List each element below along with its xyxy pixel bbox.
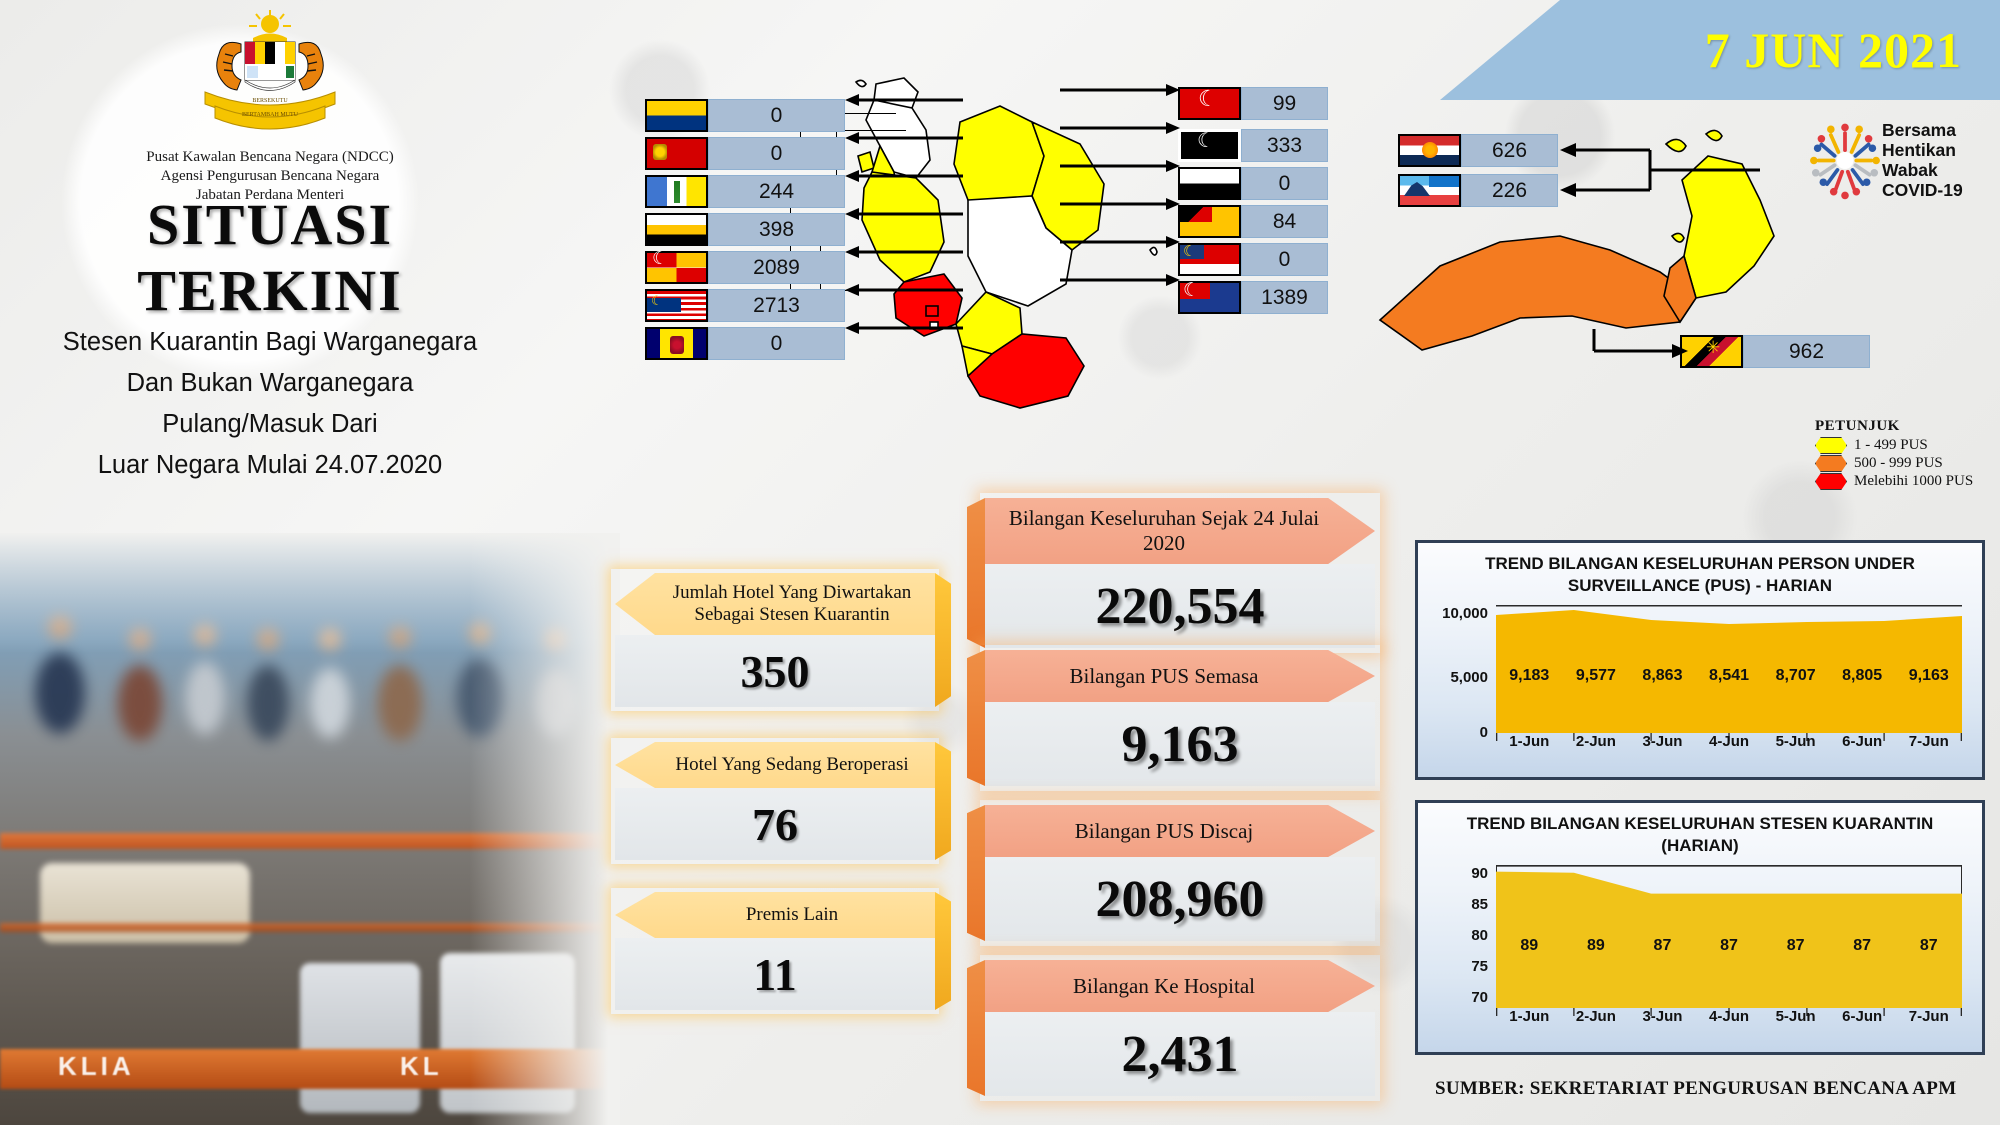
page-title-line-2: TERKINI	[25, 258, 515, 324]
stat-card-hotel-beroperasi: Hotel Yang Sedang Beroperasi 76	[615, 742, 935, 860]
flag-johor-icon	[1178, 281, 1241, 314]
state-row-pulau-pinang[interactable]: 244	[645, 175, 845, 208]
chart-title-stesen-kuarantin: TREND BILANGAN KESELURUHAN STESEN KUARAN…	[1426, 813, 1974, 857]
datalabel-k-1-jun: 89	[1496, 937, 1563, 955]
airport-queue-photo: KLIA KL	[0, 533, 620, 1125]
state-row-kedah[interactable]: 0	[645, 137, 845, 170]
xtick-k-1-jun: 1-Jun	[1496, 1008, 1563, 1030]
subtitle-line-3: Pulang/Masuk Dari	[10, 404, 530, 445]
datalabel-k-7-jun: 87	[1895, 937, 1962, 955]
chart-pus-harian: TREND BILANGAN KESELURUHAN PERSON UNDER …	[1415, 540, 1985, 780]
state-value-sabah: 226	[1461, 174, 1558, 207]
ytick-70: 70	[1426, 989, 1488, 1006]
flag-putrajaya-icon	[645, 327, 708, 360]
state-value-kelantan: 99	[1241, 87, 1328, 120]
xtick-2-jun: 2-Jun	[1563, 733, 1630, 755]
page-title-line-1: SITUASI	[25, 192, 515, 258]
flag-terengganu-icon	[1178, 129, 1241, 162]
state-row-putrajaya[interactable]: 0	[645, 327, 845, 360]
stat-card-hotel-diwartakan: Jumlah Hotel Yang Diwartakan Sebagai Ste…	[615, 573, 935, 707]
state-row-kuala-lumpur[interactable]: 2713	[645, 289, 845, 322]
state-value-putrajaya: 0	[708, 327, 845, 360]
state-row-perlis[interactable]: 0	[645, 99, 845, 132]
ytick-90: 90	[1426, 865, 1488, 882]
state-row-sarawak[interactable]: 962	[1680, 335, 1870, 368]
state-row-melaka[interactable]: 0	[1178, 243, 1328, 276]
stat-value-ke-hospital: 2,431	[985, 1012, 1375, 1096]
klia-sign-left: KLIA	[58, 1051, 135, 1082]
legend-title: PETUNJUK	[1815, 418, 1995, 435]
stat-label-pus-semasa: Bilangan PUS Semasa	[985, 650, 1375, 702]
chart-xaxis-pus-harian: 1-Jun 2-Jun 3-Jun 4-Jun 5-Jun 6-Jun 7-Ju…	[1496, 733, 1962, 755]
xtick-k-4-jun: 4-Jun	[1696, 1008, 1763, 1030]
datalabel-k-6-jun: 87	[1829, 937, 1896, 955]
flag-kedah-icon	[645, 137, 708, 170]
stat-value-pus-semasa: 9,163	[985, 702, 1375, 786]
state-row-pahang[interactable]: 0	[1178, 167, 1328, 200]
datalabel-2-jun: 9,577	[1563, 667, 1630, 685]
page-title: SITUASI TERKINI	[25, 192, 515, 324]
stat-value-hotel-beroperasi: 76	[615, 788, 935, 860]
xtick-k-3-jun: 3-Jun	[1629, 1008, 1696, 1030]
xtick-7-jun: 7-Jun	[1895, 733, 1962, 755]
flag-perlis-icon	[645, 99, 708, 132]
state-row-sabah[interactable]: 226	[1398, 174, 1558, 207]
flag-melaka-icon	[1178, 243, 1241, 276]
flag-kuala-lumpur-icon	[645, 289, 708, 322]
legend-chip-orange	[1815, 455, 1847, 472]
stat-card-pus-discaj: Bilangan PUS Discaj 208,960	[985, 805, 1375, 941]
stat-label-pus-discaj: Bilangan PUS Discaj	[985, 805, 1375, 857]
datalabel-6-jun: 8,805	[1829, 667, 1896, 685]
state-value-kedah: 0	[708, 137, 845, 170]
stat-value-premis-lain: 11	[615, 938, 935, 1010]
stat-label-ke-hospital: Bilangan Ke Hospital	[985, 960, 1375, 1012]
stat-label-keseluruhan-sejak: Bilangan Keseluruhan Sejak 24 Julai 2020	[985, 498, 1375, 564]
state-value-selangor: 2089	[708, 251, 845, 284]
state-row-terengganu[interactable]: 333	[1178, 129, 1328, 162]
state-value-negeri-sembilan: 84	[1241, 205, 1328, 238]
legend-item-yellow: 1 - 499 PUS	[1815, 437, 1995, 454]
subtitle-line-2: Dan Bukan Warganegara	[10, 363, 530, 404]
datalabel-5-jun: 8,707	[1762, 667, 1829, 685]
datalabel-k-3-jun: 87	[1629, 937, 1696, 955]
xtick-5-jun: 5-Jun	[1762, 733, 1829, 755]
state-value-pulau-pinang: 244	[708, 175, 845, 208]
chart-plot-pus-harian: 10,000 5,000 0 9,183 9,577 8,863 8,5	[1426, 605, 1974, 755]
state-value-labuan: 626	[1461, 134, 1558, 167]
state-row-perak[interactable]: 398	[645, 213, 845, 246]
state-value-kuala-lumpur: 2713	[708, 289, 845, 322]
ytick-10000: 10,000	[1426, 605, 1488, 622]
flag-pulau-pinang-icon	[645, 175, 708, 208]
subtitle-line-4: Luar Negara Mulai 24.07.2020	[10, 445, 530, 486]
ytick-80: 80	[1426, 927, 1488, 944]
state-value-melaka: 0	[1241, 243, 1328, 276]
state-value-johor: 1389	[1241, 281, 1328, 314]
stat-card-premis-lain: Premis Lain 11	[615, 892, 935, 1010]
datalabel-k-2-jun: 89	[1563, 937, 1630, 955]
stat-label-hotel-diwartakan: Jumlah Hotel Yang Diwartakan Sebagai Ste…	[615, 573, 935, 635]
source-footer: SUMBER: SEKRETARIAT PENGURUSAN BENCANA A…	[1435, 1078, 1956, 1100]
flag-pahang-icon	[1178, 167, 1241, 200]
flag-selangor-icon	[645, 251, 708, 284]
datalabel-k-5-jun: 87	[1762, 937, 1829, 955]
stat-value-hotel-diwartakan: 350	[615, 635, 935, 707]
legend-label-red: Melebihi 1000 PUS	[1854, 473, 1973, 490]
xtick-6-jun: 6-Jun	[1829, 733, 1896, 755]
xtick-3-jun: 3-Jun	[1629, 733, 1696, 755]
svg-text:BERTAMBAH MUTU: BERTAMBAH MUTU	[242, 112, 299, 118]
xtick-1-jun: 1-Jun	[1496, 733, 1563, 755]
flag-labuan-icon	[1398, 134, 1461, 167]
state-row-negeri-sembilan[interactable]: 84	[1178, 205, 1328, 238]
ytick-5000: 5,000	[1426, 669, 1488, 686]
ytick-75: 75	[1426, 958, 1488, 975]
datalabel-4-jun: 8,541	[1696, 667, 1763, 685]
malaysia-coat-of-arms-icon: BERSEKUTU BERTAMBAH MUTU	[175, 10, 365, 150]
state-row-selangor[interactable]: 2089	[645, 251, 845, 284]
state-value-perak: 398	[708, 213, 845, 246]
datalabel-1-jun: 9,183	[1496, 667, 1563, 685]
stat-card-keseluruhan-sejak: Bilangan Keseluruhan Sejak 24 Julai 2020…	[985, 498, 1375, 648]
flag-kelantan-icon	[1178, 87, 1241, 120]
datalabel-7-jun: 9,163	[1895, 667, 1962, 685]
legend-chip-red	[1815, 473, 1847, 490]
stat-value-keseluruhan-sejak: 220,554	[985, 564, 1375, 648]
chart-plot-stesen-kuarantin: 90 85 80 75 70 89 89 87 87 87	[1426, 865, 1974, 1030]
stat-label-hotel-beroperasi: Hotel Yang Sedang Beroperasi	[615, 742, 935, 788]
chart-datalabels-pus-harian: 9,183 9,577 8,863 8,541 8,707 8,805 9,16…	[1496, 667, 1962, 685]
stat-card-pus-semasa: Bilangan PUS Semasa 9,163	[985, 650, 1375, 786]
map-legend: PETUNJUK 1 - 499 PUS 500 - 999 PUS Meleb…	[1815, 418, 1995, 491]
state-value-perlis: 0	[708, 99, 845, 132]
state-row-labuan[interactable]: 626	[1398, 134, 1558, 167]
agency-line-1: Pusat Kawalan Bencana Negara (NDCC)	[55, 148, 485, 167]
xtick-k-5-jun: 5-Jun	[1762, 1008, 1829, 1030]
state-value-sarawak: 962	[1743, 335, 1870, 368]
datalabel-k-4-jun: 87	[1696, 937, 1763, 955]
state-row-kelantan[interactable]: 99	[1178, 87, 1328, 120]
stat-value-pus-discaj: 208,960	[985, 857, 1375, 941]
legend-label-orange: 500 - 999 PUS	[1854, 455, 1943, 472]
datalabel-3-jun: 8,863	[1629, 667, 1696, 685]
xtick-k-6-jun: 6-Jun	[1829, 1008, 1896, 1030]
xtick-k-7-jun: 7-Jun	[1895, 1008, 1962, 1030]
legend-item-orange: 500 - 999 PUS	[1815, 455, 1995, 472]
state-row-johor[interactable]: 1389	[1178, 281, 1328, 314]
ytick-0: 0	[1426, 724, 1488, 741]
xtick-k-2-jun: 2-Jun	[1563, 1008, 1630, 1030]
svg-text:BERSEKUTU: BERSEKUTU	[252, 98, 288, 104]
state-value-pahang: 0	[1241, 167, 1328, 200]
legend-item-red: Melebihi 1000 PUS	[1815, 473, 1995, 490]
flag-perak-icon	[645, 213, 708, 246]
chart-stesen-kuarantin: TREND BILANGAN KESELURUHAN STESEN KUARAN…	[1415, 800, 1985, 1055]
stat-label-premis-lain: Premis Lain	[615, 892, 935, 938]
legend-chip-yellow	[1815, 437, 1847, 454]
agency-line-2: Agensi Pengurusan Bencana Negara	[55, 167, 485, 186]
klia-sign-right: KL	[400, 1051, 443, 1082]
chart-xaxis-stesen-kuarantin: 1-Jun 2-Jun 3-Jun 4-Jun 5-Jun 6-Jun 7-Ju…	[1496, 1008, 1962, 1030]
subtitle-line-1: Stesen Kuarantin Bagi Warganegara	[10, 322, 530, 363]
state-value-terengganu: 333	[1241, 129, 1328, 162]
page-subtitle: Stesen Kuarantin Bagi Warganegara Dan Bu…	[10, 322, 530, 486]
chart-title-pus-harian: TREND BILANGAN KESELURUHAN PERSON UNDER …	[1426, 553, 1974, 597]
flag-sabah-icon	[1398, 174, 1461, 207]
xtick-4-jun: 4-Jun	[1696, 733, 1763, 755]
legend-label-yellow: 1 - 499 PUS	[1854, 437, 1928, 454]
stat-card-ke-hospital: Bilangan Ke Hospital 2,431	[985, 960, 1375, 1096]
flag-negeri-sembilan-icon	[1178, 205, 1241, 238]
chart-datalabels-stesen-kuarantin: 89 89 87 87 87 87 87	[1496, 937, 1962, 955]
ytick-85: 85	[1426, 896, 1488, 913]
